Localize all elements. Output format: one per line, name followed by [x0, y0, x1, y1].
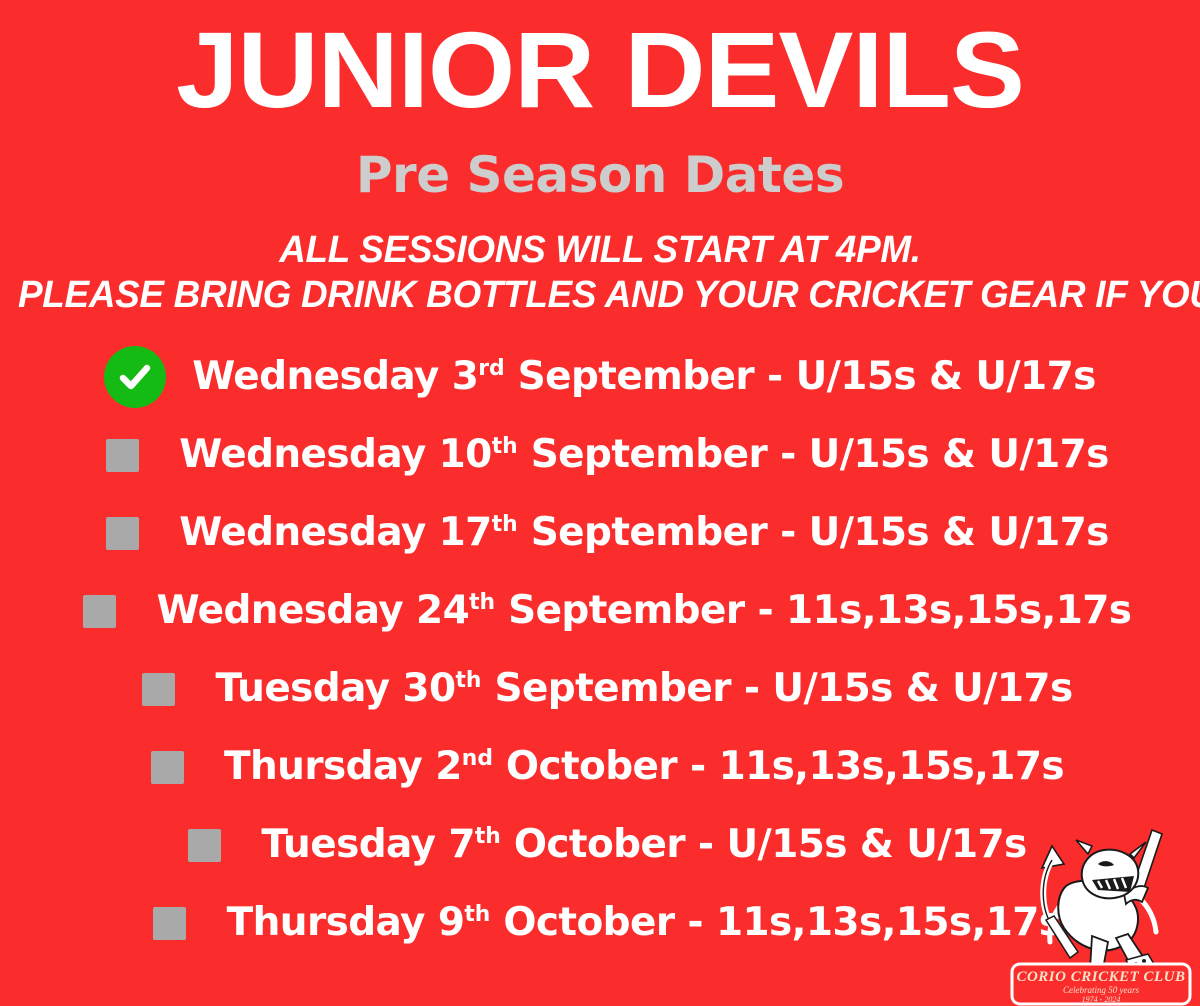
schedule-row-text: Thursday 2nd October - 11s,13s,15s,17s — [224, 744, 1064, 790]
schedule-row[interactable]: Wednesday 24th September - 11s,13s,15s,1… — [0, 572, 1200, 650]
notice-line-2: PLEASE BRING DRINK BOTTLES AND YOUR CRIC… — [18, 273, 1182, 318]
schedule-row-text: Wednesday 10th September - U/15s & U/17s — [179, 432, 1109, 478]
club-logo: CORIO CRICKET CLUB Celebrating 50 years … — [1006, 824, 1196, 1006]
page-subtitle: Pre Season Dates — [0, 146, 1200, 204]
logo-club-name: CORIO CRICKET CLUB — [1016, 969, 1185, 985]
checkbox-square — [106, 439, 139, 472]
schedule-row[interactable]: Tuesday 30th September - U/15s & U/17s — [0, 650, 1200, 728]
checkbox-empty-icon[interactable] — [173, 814, 235, 876]
checkbox-empty-icon[interactable] — [136, 736, 198, 798]
checkbox-empty-icon[interactable] — [91, 424, 153, 486]
checkbox-empty-icon[interactable] — [139, 892, 201, 954]
notice-block: ALL SESSIONS WILL START AT 4PM. PLEASE B… — [0, 228, 1200, 318]
date-suffix: th — [456, 668, 482, 693]
date-suffix: th — [464, 902, 490, 927]
checkbox-square — [151, 751, 184, 784]
checkbox-square — [153, 907, 186, 940]
checkbox-empty-icon[interactable] — [69, 580, 131, 642]
checkbox-empty-icon[interactable] — [91, 502, 153, 564]
check-mark-icon — [115, 357, 155, 397]
schedule-row-text: Tuesday 30th September - U/15s & U/17s — [215, 666, 1072, 712]
check-circle-background — [104, 346, 166, 408]
schedule-row-text: Wednesday 3rd September - U/15s & U/17s — [192, 354, 1095, 400]
schedule-row-text: Wednesday 17th September - U/15s & U/17s — [179, 510, 1109, 556]
date-suffix: th — [492, 512, 518, 537]
date-suffix: rd — [478, 356, 504, 381]
date-suffix: th — [492, 434, 518, 459]
schedule-row[interactable]: Wednesday 17th September - U/15s & U/17s — [0, 494, 1200, 572]
notice-line-1: ALL SESSIONS WILL START AT 4PM. — [18, 228, 1182, 273]
logo-years: 1974 - 2024 — [1082, 995, 1121, 1004]
checkbox-square — [142, 673, 175, 706]
schedule-row[interactable]: Wednesday 3rd September - U/15s & U/17s — [0, 338, 1200, 416]
junior-devils-pre-season-poster: JUNIOR DEVILS Pre Season Dates ALL SESSI… — [0, 0, 1200, 1006]
page-title: JUNIOR DEVILS — [0, 14, 1200, 126]
logo-tagline: Celebrating 50 years — [1063, 985, 1139, 995]
schedule-row[interactable]: Wednesday 10th September - U/15s & U/17s — [0, 416, 1200, 494]
check-circle-icon[interactable] — [104, 346, 166, 408]
checkbox-square — [188, 829, 221, 862]
checkbox-square — [83, 595, 116, 628]
schedule-row-text: Thursday 9th October - 11s,13s,15s,17s — [227, 900, 1062, 946]
date-suffix: th — [469, 590, 495, 615]
checkbox-square — [106, 517, 139, 550]
schedule-row[interactable]: Thursday 2nd October - 11s,13s,15s,17s — [0, 728, 1200, 806]
schedule-row-text: Wednesday 24th September - 11s,13s,15s,1… — [157, 588, 1132, 634]
date-suffix: nd — [462, 746, 493, 771]
date-suffix: th — [475, 824, 501, 849]
checkbox-empty-icon[interactable] — [127, 658, 189, 720]
schedule-row-text: Tuesday 7th October - U/15s & U/17s — [261, 822, 1026, 868]
